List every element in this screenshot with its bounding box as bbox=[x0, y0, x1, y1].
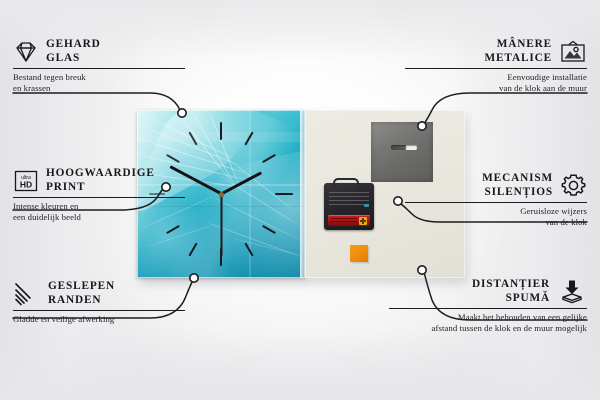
callout-dot-mecanism bbox=[394, 197, 402, 205]
feature-rule bbox=[13, 197, 185, 198]
diamond-icon bbox=[13, 40, 39, 64]
feature-rule bbox=[405, 202, 587, 203]
feature-header: DISTANȚIER SPUMĂ bbox=[389, 278, 587, 305]
callout-line-gehard-glas bbox=[13, 93, 180, 110]
feature-title: MÂNERE METALICE bbox=[485, 38, 552, 65]
feature-title: MECANISM SILENȚIOS bbox=[482, 172, 553, 199]
callout-line-metalice bbox=[424, 93, 587, 124]
feature-header: MECANISM SILENȚIOS bbox=[405, 172, 587, 199]
beveled-edges-icon bbox=[13, 282, 41, 306]
feature-header: GESLEPEN RANDEN bbox=[13, 280, 185, 307]
feature-title: HOOGWAARDIGE PRINT bbox=[46, 167, 155, 194]
feature-title: GEHARD GLAS bbox=[46, 38, 101, 65]
feature-hoogwaardige-print: ultra HD HOOGWAARDIGE PRINT Intense kleu… bbox=[13, 167, 185, 223]
gear-icon bbox=[560, 173, 587, 198]
ultra-hd-icon: ultra HD bbox=[13, 169, 39, 193]
feature-description: Eenvoudige installatie van de klok aan d… bbox=[405, 72, 587, 94]
feature-rule bbox=[13, 68, 185, 69]
feature-description: Bestand tegen breuk en krassen bbox=[13, 72, 185, 94]
feature-rule bbox=[389, 308, 587, 309]
picture-frame-icon bbox=[559, 40, 587, 64]
feature-rule bbox=[405, 68, 587, 69]
feature-distantier-spuma: DISTANȚIER SPUMĂ Maakt het behouden van … bbox=[389, 278, 587, 334]
feature-header: GEHARD GLAS bbox=[13, 38, 185, 65]
feature-header: MÂNERE METALICE bbox=[405, 38, 587, 65]
spacer-press-icon bbox=[557, 279, 587, 304]
infographic-canvas: GEHARD GLAS Bestand tegen breuk en krass… bbox=[0, 0, 600, 400]
feature-description: Geruisloze wijzers van de klok bbox=[405, 206, 587, 228]
feature-description: Maakt het behouden van een gelijke afsta… bbox=[389, 312, 587, 334]
feature-geslepen-randen: GESLEPEN RANDEN Gladde en veilige afwerk… bbox=[13, 280, 185, 325]
svg-text:HD: HD bbox=[20, 179, 32, 189]
feature-rule bbox=[13, 310, 185, 311]
callout-dot-metalice bbox=[418, 122, 426, 130]
feature-header: ultra HD HOOGWAARDIGE PRINT bbox=[13, 167, 185, 194]
callout-dot-gehard-glas bbox=[178, 109, 186, 117]
feature-description: Gladde en veilige afwerking bbox=[13, 314, 185, 325]
feature-title: GESLEPEN RANDEN bbox=[48, 280, 115, 307]
callout-dot-distantier bbox=[418, 266, 426, 274]
feature-manere-metalice: MÂNERE METALICE Eenvoudige installatie v… bbox=[405, 38, 587, 94]
feature-mecanism-silentios: MECANISM SILENȚIOS Geruisloze wijzers va… bbox=[405, 172, 587, 228]
feature-description: Intense kleuren en een duidelijk beeld bbox=[13, 201, 185, 223]
callout-dot-randen bbox=[190, 274, 198, 282]
feature-title: DISTANȚIER SPUMĂ bbox=[472, 278, 550, 305]
feature-gehard-glas: GEHARD GLAS Bestand tegen breuk en krass… bbox=[13, 38, 185, 94]
